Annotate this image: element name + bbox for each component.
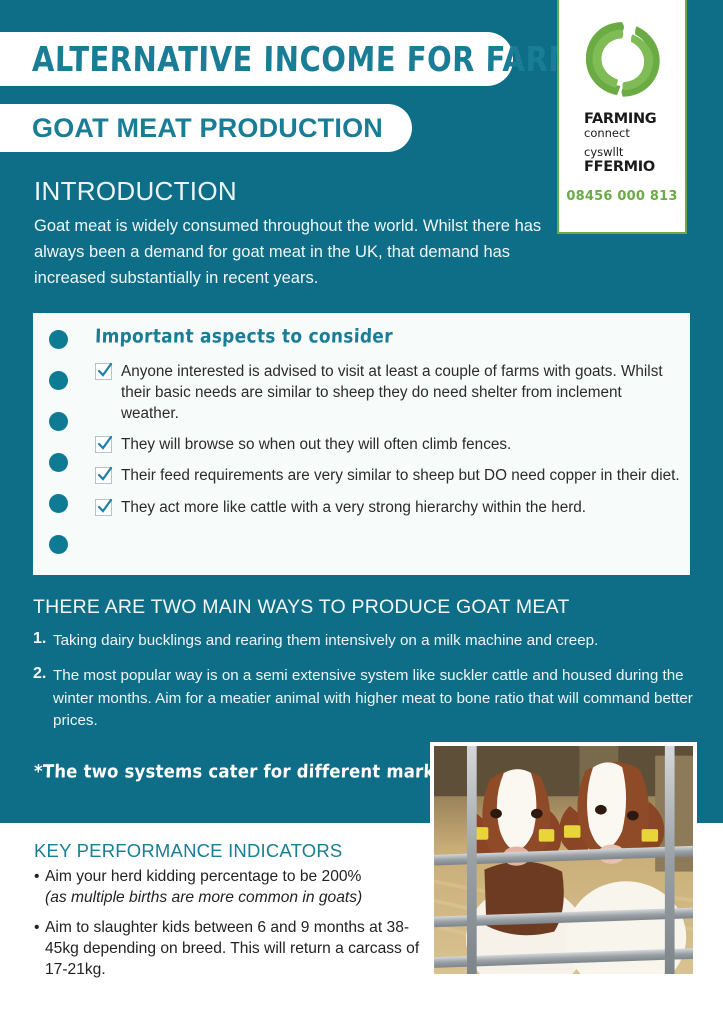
important-aspects-panel: Important aspects to consider Anyone int… (33, 313, 690, 575)
checkbox-checked-icon[interactable] (95, 363, 112, 380)
aspect-check-item[interactable]: They will browse so when out they will o… (95, 434, 680, 455)
aspects-checklist: Anyone interested is advised to visit at… (95, 361, 680, 518)
aspect-check-item[interactable]: They act more like cattle with a very st… (95, 497, 680, 518)
production-method-item: 1. Taking dairy bucklings and rearing th… (33, 630, 693, 653)
logo-phone-number: 08456 000 813 (566, 189, 677, 204)
decorative-dot (49, 371, 68, 390)
production-methods-section: THERE ARE TWO MAIN WAYS TO PRODUCE GOAT … (33, 596, 693, 745)
logo-cyswllt-text: cyswllt (584, 146, 685, 159)
production-methods-heading: THERE ARE TWO MAIN WAYS TO PRODUCE GOAT … (33, 596, 693, 619)
checkbox-checked-icon[interactable] (95, 499, 112, 516)
key-performance-indicators-section: KEY PERFORMANCE INDICATORS • Aim your he… (34, 840, 424, 989)
goat-photo-frame (430, 742, 697, 978)
aspect-check-text: They act more like cattle with a very st… (121, 497, 586, 518)
production-method-number: 2. (33, 665, 53, 733)
decorative-dot (49, 494, 68, 513)
kpi-list-item: • Aim to slaughter kids between 6 and 9 … (34, 918, 424, 981)
kpi-item-text: Aim your herd kidding percentage to be 2… (45, 867, 362, 909)
aspect-check-text: Anyone interested is advised to visit at… (121, 361, 680, 424)
title-banner-secondary: GOAT MEAT PRODUCTION (0, 104, 412, 152)
kpi-item-note: (as multiple births are more common in g… (45, 889, 362, 906)
decorative-dot (49, 535, 68, 554)
kpi-bullet-icon: • (34, 867, 45, 909)
introduction-body: Goat meat is widely consumed throughout … (34, 213, 544, 291)
production-method-number: 1. (33, 630, 53, 653)
aspect-check-text: Their feed requirements are very similar… (121, 465, 680, 486)
leaflet-page: ALTERNATIVE INCOME FOR FARMS GOAT MEAT P… (0, 0, 723, 1024)
systems-note: *The two systems cater for different mar… (34, 761, 471, 782)
introduction-heading: INTRODUCTION (34, 176, 544, 207)
production-method-item: 2. The most popular way is on a semi ext… (33, 665, 693, 733)
aspects-heading: Important aspects to consider (95, 326, 681, 348)
aspects-content: Important aspects to consider Anyone int… (95, 327, 680, 528)
goat-photo-illustration (434, 746, 693, 974)
aspect-check-text: They will browse so when out they will o… (121, 434, 511, 455)
logo-connect-text: connect (584, 127, 685, 140)
production-method-text: The most popular way is on a semi extens… (53, 665, 693, 733)
green-swirl-circle-icon (581, 18, 663, 100)
production-method-text: Taking dairy bucklings and rearing them … (53, 630, 598, 653)
title-banner-primary-text: ALTERNATIVE INCOME FOR FARMS (32, 39, 600, 79)
introduction-section: INTRODUCTION Goat meat is widely consume… (34, 176, 544, 291)
kpi-item-main: Aim to slaughter kids between 6 and 9 mo… (45, 918, 424, 981)
aspect-check-item[interactable]: Anyone interested is advised to visit at… (95, 361, 680, 424)
decorative-dot (49, 453, 68, 472)
decorative-dot (49, 330, 68, 349)
farming-connect-logo-box: FARMING connect cyswllt FFERMIO 08456 00… (557, 0, 687, 234)
decorative-dot-column (49, 330, 79, 560)
logo-wordmark: FARMING connect cyswllt FFERMIO (559, 112, 685, 175)
title-banner-secondary-text: GOAT MEAT PRODUCTION (32, 113, 383, 144)
kpi-list-item: • Aim your herd kidding percentage to be… (34, 867, 424, 909)
logo-farming-text: FARMING (584, 112, 685, 127)
kpi-bullet-icon: • (34, 918, 45, 981)
checkbox-checked-icon[interactable] (95, 436, 112, 453)
aspect-check-item[interactable]: Their feed requirements are very similar… (95, 465, 680, 486)
kpi-item-main: Aim your herd kidding percentage to be 2… (45, 868, 361, 885)
goat-photo (434, 746, 693, 974)
logo-ffermio-text: FFERMIO (584, 160, 685, 175)
decorative-dot (49, 412, 68, 431)
checkbox-checked-icon[interactable] (95, 467, 112, 484)
title-banner-primary: ALTERNATIVE INCOME FOR FARMS (0, 32, 513, 86)
kpi-heading: KEY PERFORMANCE INDICATORS (34, 840, 424, 862)
